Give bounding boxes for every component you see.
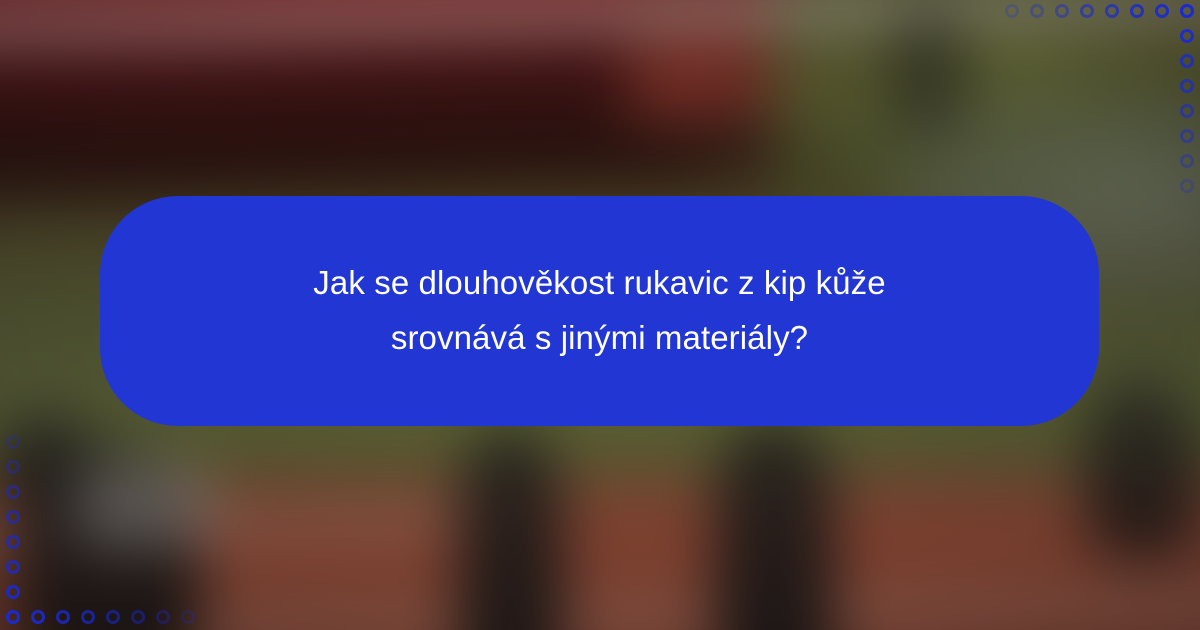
decorative-dot (181, 610, 195, 624)
decorative-dot (6, 510, 20, 524)
decorative-dot (6, 560, 20, 574)
decorative-dot (1180, 179, 1194, 193)
decorative-dot (1055, 4, 1069, 18)
decorative-dot (6, 585, 20, 599)
decorative-dot (1180, 29, 1194, 43)
decorative-dot (31, 610, 45, 624)
decorative-dot (1080, 4, 1094, 18)
decorative-dot (81, 610, 95, 624)
dot-cluster-top-right (980, 0, 1200, 220)
decorative-dot (1180, 4, 1194, 18)
decorative-dot (131, 610, 145, 624)
decorative-dot (1180, 54, 1194, 68)
decorative-dot (1180, 104, 1194, 118)
question-text: Jak se dlouhověkost rukavic z kip kůže s… (250, 256, 950, 366)
decorative-dot (6, 485, 20, 499)
decorative-dot (1030, 4, 1044, 18)
decorative-dot (56, 610, 70, 624)
decorative-dot (1005, 4, 1019, 18)
dot-cluster-bottom-left (0, 410, 220, 630)
decorative-dot (106, 610, 120, 624)
decorative-dot (1155, 4, 1169, 18)
question-card: Jak se dlouhověkost rukavic z kip kůže s… (100, 196, 1099, 426)
decorative-dot (1180, 129, 1194, 143)
decorative-dot (6, 535, 20, 549)
decorative-dot (156, 610, 170, 624)
decorative-dot (1180, 79, 1194, 93)
screenshot-stage: Jak se dlouhověkost rukavic z kip kůže s… (0, 0, 1200, 630)
decorative-dot (6, 435, 20, 449)
decorative-dot (1105, 4, 1119, 18)
decorative-dot (1180, 154, 1194, 168)
decorative-dot (1130, 4, 1144, 18)
decorative-dot (6, 610, 20, 624)
decorative-dot (6, 460, 20, 474)
